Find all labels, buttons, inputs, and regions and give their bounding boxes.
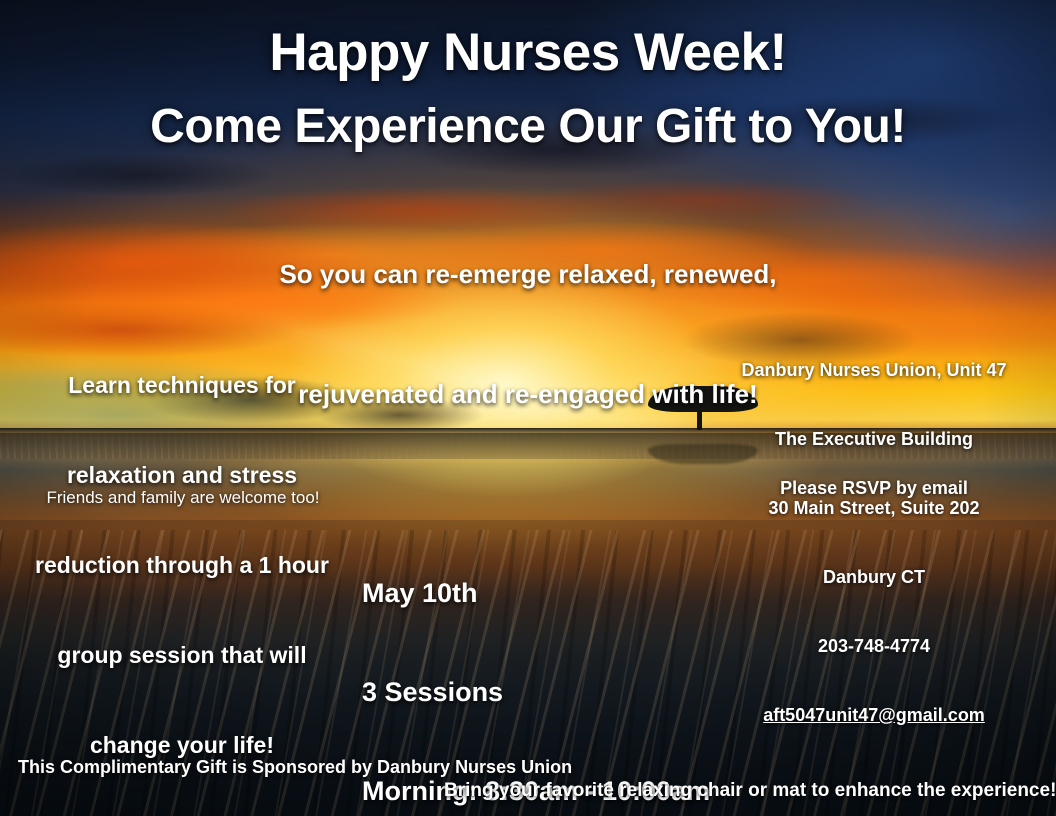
description-line-1: Learn techniques for [12, 370, 352, 400]
description-line-4: group session that will [12, 640, 352, 670]
subheadline-line-1: So you can re-emerge relaxed, renewed, [0, 254, 1056, 294]
contact-organization: Danbury Nurses Union, Unit 47 [704, 359, 1044, 382]
contact-street: 30 Main Street, Suite 202 [704, 497, 1044, 520]
poster-content: Happy Nurses Week! Come Experience Our G… [0, 0, 1056, 816]
friends-family-note: Friends and family are welcome too! [18, 487, 348, 509]
description-line-3: reduction through a 1 hour [12, 550, 352, 580]
headline-secondary: Come Experience Our Gift to You! [0, 98, 1056, 156]
headline-primary: Happy Nurses Week! [0, 24, 1056, 82]
contact-building: The Executive Building [704, 428, 1044, 451]
footer-sponsor-line: This Complimentary Gift is Sponsored by … [18, 755, 924, 779]
description-line-2: relaxation and stress [12, 460, 352, 490]
session-date: May 10th [362, 577, 710, 610]
contact-phone: 203-748-4774 [704, 635, 1044, 658]
session-count: 3 Sessions [362, 676, 710, 709]
nurses-week-poster: Happy Nurses Week! Come Experience Our G… [0, 0, 1056, 816]
contact-block: Danbury Nurses Union, Unit 47 The Execut… [704, 313, 1044, 773]
rsvp-note: Please RSVP by email [704, 477, 1044, 500]
contact-city-state: Danbury CT [704, 566, 1044, 589]
bring-chair-note: Bring your favorite relaxing chair or ma… [444, 779, 1056, 803]
